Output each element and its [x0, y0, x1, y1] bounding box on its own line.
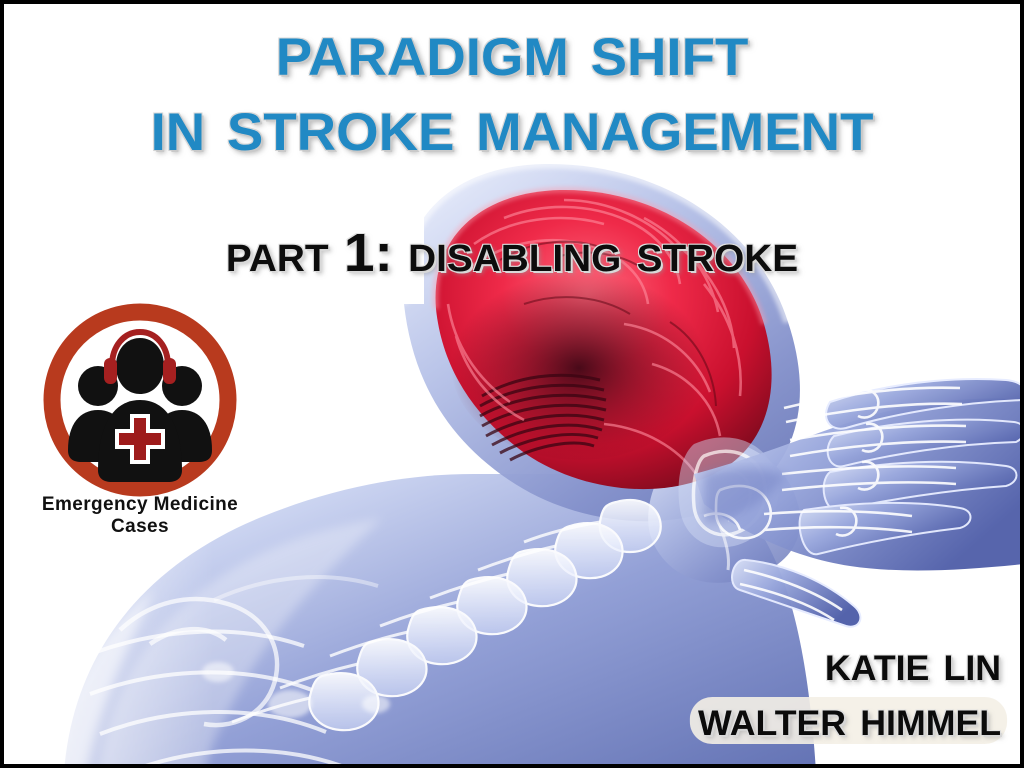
logo-mark-icon: [40, 300, 240, 500]
emergency-medicine-cases-logo: Emergency Medicine Cases: [26, 300, 254, 538]
presentation-slide: Paradigm Shift in Stroke Management Part…: [0, 0, 1024, 768]
logo-caption: Emergency Medicine Cases: [26, 494, 254, 538]
